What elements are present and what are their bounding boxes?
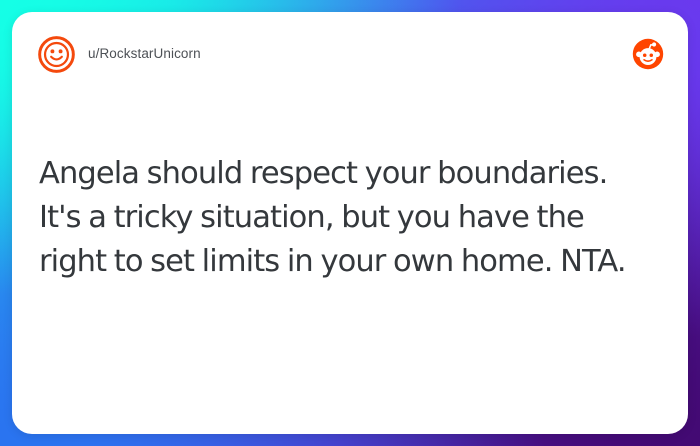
author-block[interactable]: u/RockstarUnicorn [38, 36, 201, 73]
author-username: u/RockstarUnicorn [88, 47, 201, 61]
screenshot-canvas: u/RockstarUnicorn Angela should respect … [0, 0, 700, 446]
reddit-post-card: u/RockstarUnicorn Angela should respect … [12, 12, 688, 434]
card-body: Angela should respect your boundaries. I… [39, 152, 652, 284]
smiley-avatar-icon[interactable] [38, 36, 75, 73]
post-text: Angela should respect your boundaries. I… [39, 152, 652, 284]
card-header: u/RockstarUnicorn [12, 12, 688, 96]
reddit-snoo-logo[interactable] [632, 38, 664, 70]
